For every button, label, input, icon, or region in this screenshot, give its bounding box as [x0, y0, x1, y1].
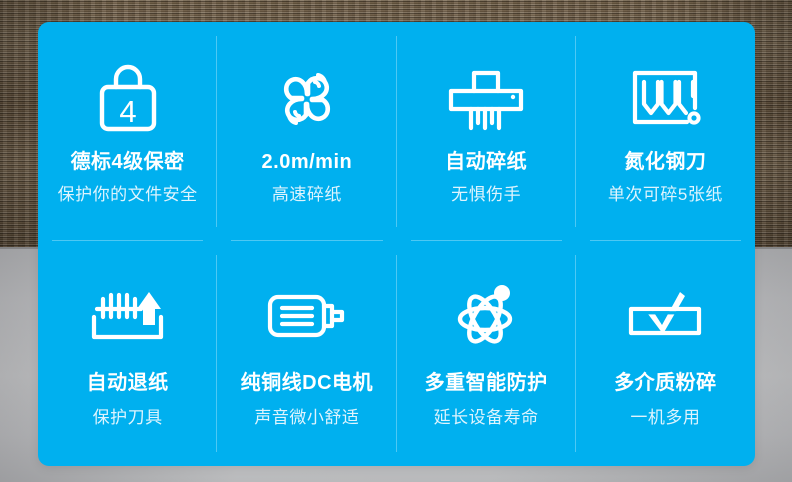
feature-cell-3[interactable]: 自动碎纸 无惧伤手 [397, 22, 576, 241]
feature-subtitle: 无惧伤手 [451, 186, 521, 203]
paper-shredder-icon [445, 60, 527, 138]
feature-title: 自动碎纸 [445, 152, 527, 172]
feature-subtitle: 延长设备寿命 [434, 409, 539, 426]
steel-blade-icon [627, 60, 703, 138]
paper-eject-icon [85, 277, 171, 355]
feature-subtitle: 保护你的文件安全 [58, 186, 198, 203]
dc-motor-icon [265, 277, 349, 355]
feature-title: 多介质粉碎 [614, 373, 717, 393]
multi-media-check-icon [625, 277, 705, 355]
feature-subtitle: 保护刀具 [93, 409, 163, 426]
svg-text:4: 4 [119, 94, 136, 129]
feature-cell-1[interactable]: 4 德标4级保密 保护你的文件安全 [38, 22, 217, 241]
feature-subtitle: 声音微小舒适 [254, 409, 359, 426]
feature-subtitle: 高速碎纸 [272, 186, 342, 203]
fan-speed-icon [271, 60, 343, 138]
feature-title: 2.0m/min [262, 152, 353, 172]
atom-protection-icon [449, 277, 523, 355]
feature-title: 德标4级保密 [71, 152, 185, 172]
feature-subtitle: 一机多用 [630, 409, 700, 426]
feature-cell-8[interactable]: 多介质粉碎 一机多用 [576, 241, 755, 466]
feature-title: 纯铜线DC电机 [241, 373, 373, 393]
lock-level4-icon: 4 [95, 60, 161, 138]
feature-cell-2[interactable]: 2.0m/min 高速碎纸 [217, 22, 396, 241]
feature-title: 多重智能防护 [425, 373, 548, 393]
product-feature-banner: 4 德标4级保密 保护你的文件安全 [0, 0, 792, 482]
feature-title: 氮化钢刀 [624, 152, 706, 172]
feature-grid-panel: 4 德标4级保密 保护你的文件安全 [38, 22, 755, 466]
feature-title: 自动退纸 [87, 373, 169, 393]
feature-cell-6[interactable]: 纯铜线DC电机 声音微小舒适 [217, 241, 396, 466]
feature-cell-7[interactable]: 多重智能防护 延长设备寿命 [397, 241, 576, 466]
feature-cell-4[interactable]: 氮化钢刀 单次可碎5张纸 [576, 22, 755, 241]
feature-cell-5[interactable]: 自动退纸 保护刀具 [38, 241, 217, 466]
feature-subtitle: 单次可碎5张纸 [608, 186, 723, 203]
